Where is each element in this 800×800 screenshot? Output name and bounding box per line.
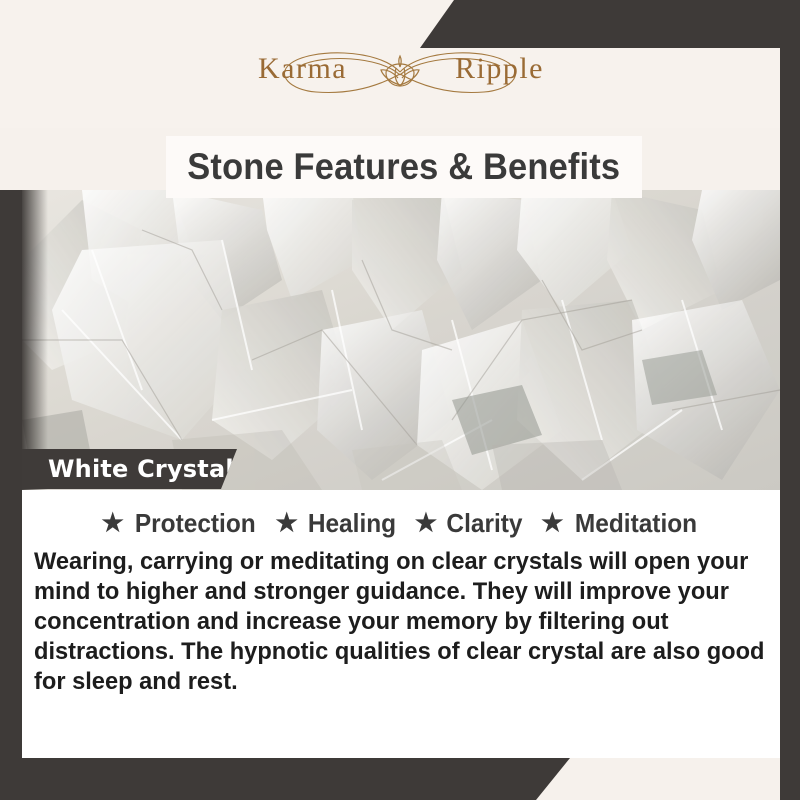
brand-name-right: Ripple — [455, 52, 544, 86]
stone-name-badge: White Crystal — [22, 449, 237, 489]
benefits-row: ★ Protection ★ Healing ★ Clarity ★ Medit… — [22, 490, 780, 539]
benefit-label: Clarity — [447, 508, 523, 539]
benefit-label: Protection — [135, 508, 256, 539]
description-paragraph: Wearing, carrying or meditating on clear… — [34, 547, 771, 696]
stone-name-label: White Crystal — [22, 455, 234, 483]
star-icon: ★ — [101, 511, 123, 536]
infographic-card: Karma Ripple — [0, 0, 800, 800]
star-icon: ★ — [415, 511, 437, 536]
brand-name-left: Karma — [258, 52, 347, 86]
content-area: ★ Protection ★ Healing ★ Clarity ★ Medit… — [22, 490, 780, 758]
frame-edge-bottom — [0, 758, 600, 800]
benefit-label: Meditation — [574, 508, 696, 539]
page-title: Stone Features & Benefits — [188, 146, 621, 188]
benefit-item-meditation: ★ Meditation — [541, 508, 700, 539]
brand-logo: Karma Ripple — [0, 42, 800, 106]
benefit-item-healing: ★ Healing — [275, 508, 398, 539]
crystal-photo — [22, 190, 780, 490]
benefit-item-protection: ★ Protection — [101, 508, 259, 539]
frame-corner-top-right — [420, 0, 800, 48]
page-title-band: Stone Features & Benefits — [166, 136, 642, 198]
benefit-item-clarity: ★ Clarity — [415, 508, 525, 539]
benefit-label: Healing — [308, 508, 396, 539]
star-icon: ★ — [275, 511, 297, 536]
frame-edge-left — [0, 190, 22, 800]
star-icon: ★ — [541, 511, 563, 536]
frame-edge-right — [780, 0, 800, 800]
photo-left-shadow — [22, 190, 48, 490]
